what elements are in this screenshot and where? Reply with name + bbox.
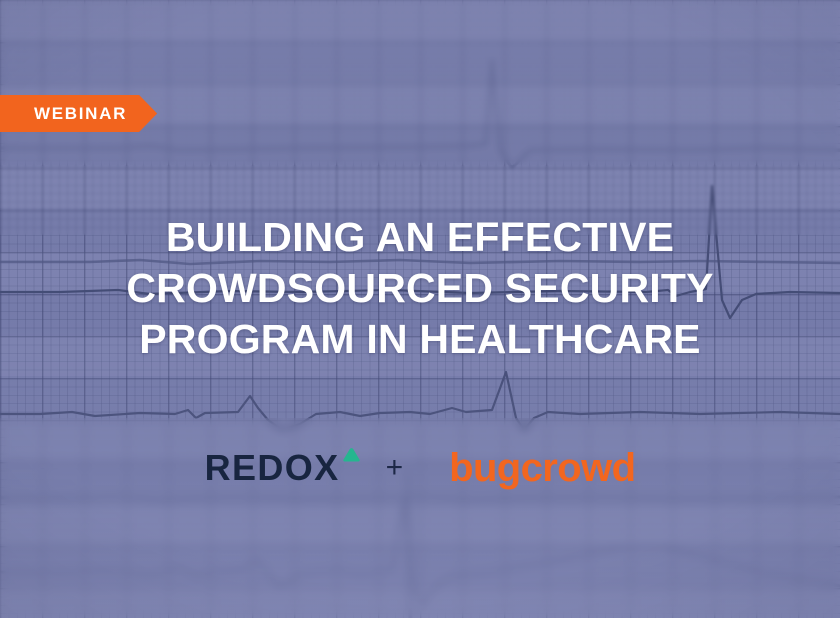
- logo-row: REDOX + bugcrowd: [0, 443, 840, 493]
- webinar-badge: WEBINAR: [0, 95, 157, 132]
- webinar-promo-card: WEBINAR BUILDING AN EFFECTIVE CROWDSOURC…: [0, 0, 840, 618]
- redox-logo: REDOX: [205, 450, 340, 486]
- green-triangle-icon: [342, 447, 361, 462]
- bugcrowd-logo: bugcrowd: [449, 448, 635, 488]
- page-title: BUILDING AN EFFECTIVE CROWDSOURCED SECUR…: [0, 212, 840, 365]
- title-line-1: BUILDING AN EFFECTIVE: [0, 212, 840, 263]
- title-line-2: CROWDSOURCED SECURITY: [0, 263, 840, 314]
- webinar-badge-label: WEBINAR: [34, 104, 127, 124]
- title-line-3: PROGRAM IN HEALTHCARE: [0, 314, 840, 365]
- plus-separator-icon: +: [386, 453, 404, 483]
- redox-wordmark: REDOX: [205, 447, 340, 488]
